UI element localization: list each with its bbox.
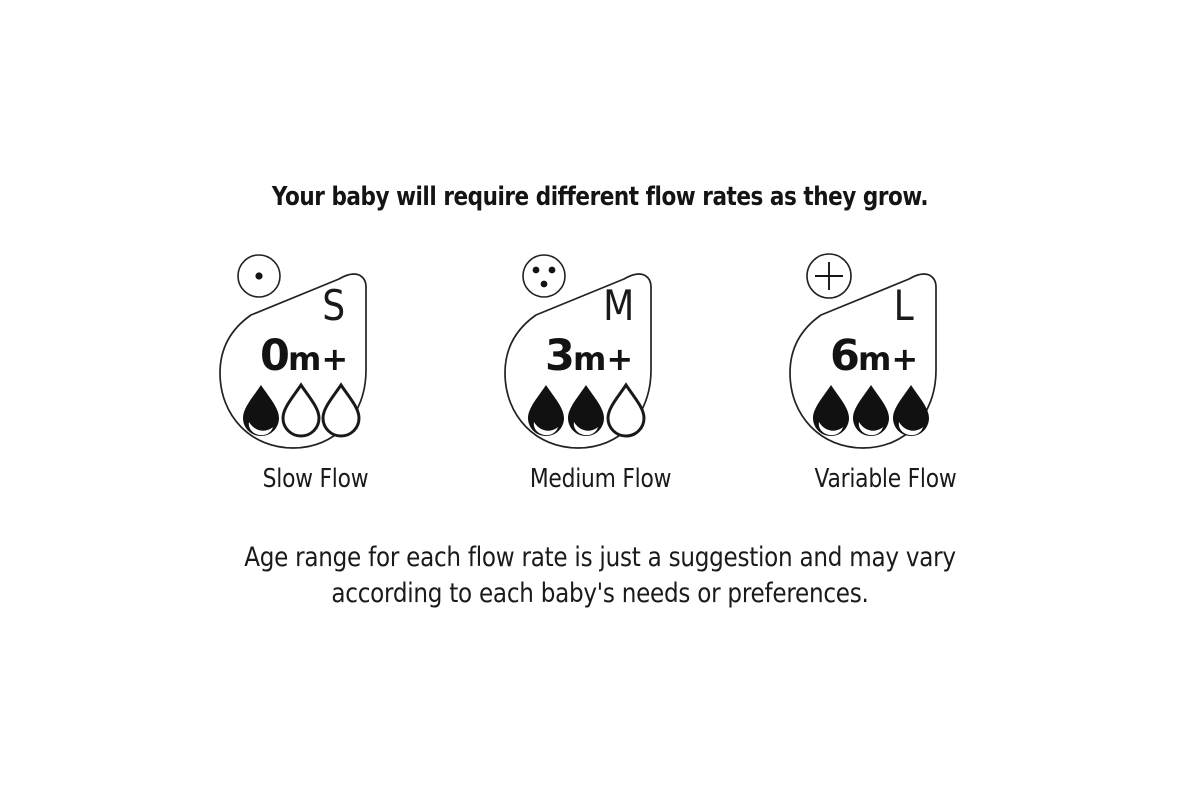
age-suffix-slow: m+ [288,340,348,378]
nipple-icon-medium: M 3 m+ [488,252,713,462]
age-number-medium: 3 [545,331,575,381]
hole-dot-icon [540,281,547,288]
flow-label-variable: Variable Flow [791,464,980,494]
age-suffix-variable: m+ [858,340,918,378]
droplet-group-slow [243,385,359,436]
page-title: Your baby will require different flow ra… [93,182,1107,212]
nipple-icon-variable: L 6 m+ [773,252,998,462]
flow-rate-infographic: Your baby will require different flow ra… [0,0,1200,800]
footnote-line-2: according to each baby's needs or prefer… [87,576,1113,612]
size-letter-variable: L [893,282,913,330]
droplet-group-variable [813,385,929,436]
age-suffix-medium: m+ [573,340,633,378]
flow-card-slow[interactable]: S 0 m+ Slow Flow [203,252,428,512]
flow-card-variable[interactable]: L 6 m+ Va [773,252,998,512]
flow-label-medium: Medium Flow [506,464,695,494]
size-letter-slow: S [322,282,345,330]
size-letter-medium: M [603,282,634,330]
droplet-group-medium [528,385,644,436]
footnote-line-1: Age range for each flow rate is just a s… [87,540,1113,576]
nipple-icon-slow: S 0 m+ [203,252,428,462]
flow-label-slow: Slow Flow [221,464,410,494]
hole-dot-icon [532,267,539,274]
age-number-slow: 0 [260,331,290,381]
hole-dot-icon [255,272,262,279]
hole-pattern-circle [523,255,565,297]
age-number-variable: 6 [830,331,860,381]
footnote: Age range for each flow rate is just a s… [87,540,1113,612]
flow-card-row: S 0 m+ Slow Flow [0,252,1200,512]
flow-card-medium[interactable]: M 3 m+ Medium Flow [488,252,713,512]
hole-dot-icon [548,267,555,274]
